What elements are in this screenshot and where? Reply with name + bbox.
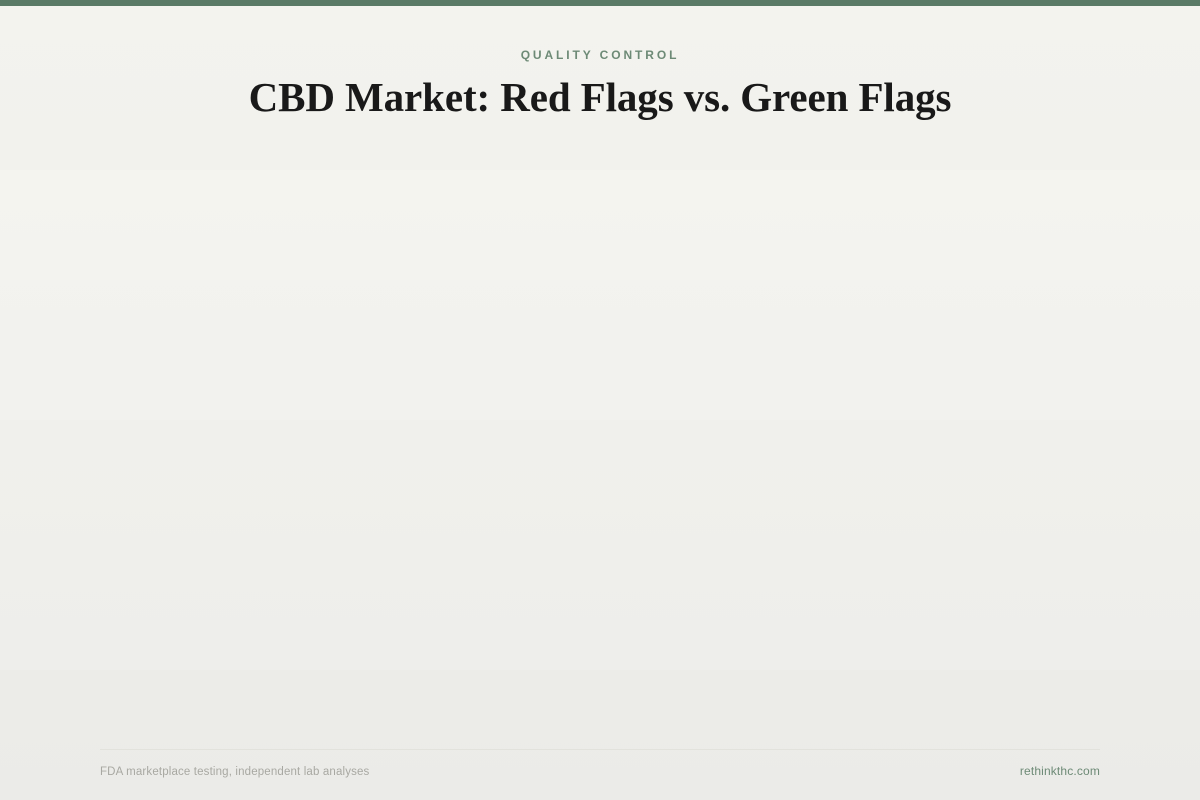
footer-source-note: FDA marketplace testing, independent lab… <box>100 765 369 779</box>
footer-row: FDA marketplace testing, independent lab… <box>100 750 1100 779</box>
background-band-lower <box>0 670 1200 800</box>
poster-header: QUALITY CONTROL CBD Market: Red Flags vs… <box>0 0 1200 121</box>
page-title: CBD Market: Red Flags vs. Green Flags <box>0 63 1200 121</box>
poster-canvas: QUALITY CONTROL CBD Market: Red Flags vs… <box>0 0 1200 800</box>
content-area <box>0 140 1200 660</box>
footer-site-url[interactable]: rethinkthc.com <box>1020 764 1100 778</box>
poster-footer: FDA marketplace testing, independent lab… <box>100 749 1100 779</box>
kicker-eyebrow: QUALITY CONTROL <box>0 0 1200 63</box>
